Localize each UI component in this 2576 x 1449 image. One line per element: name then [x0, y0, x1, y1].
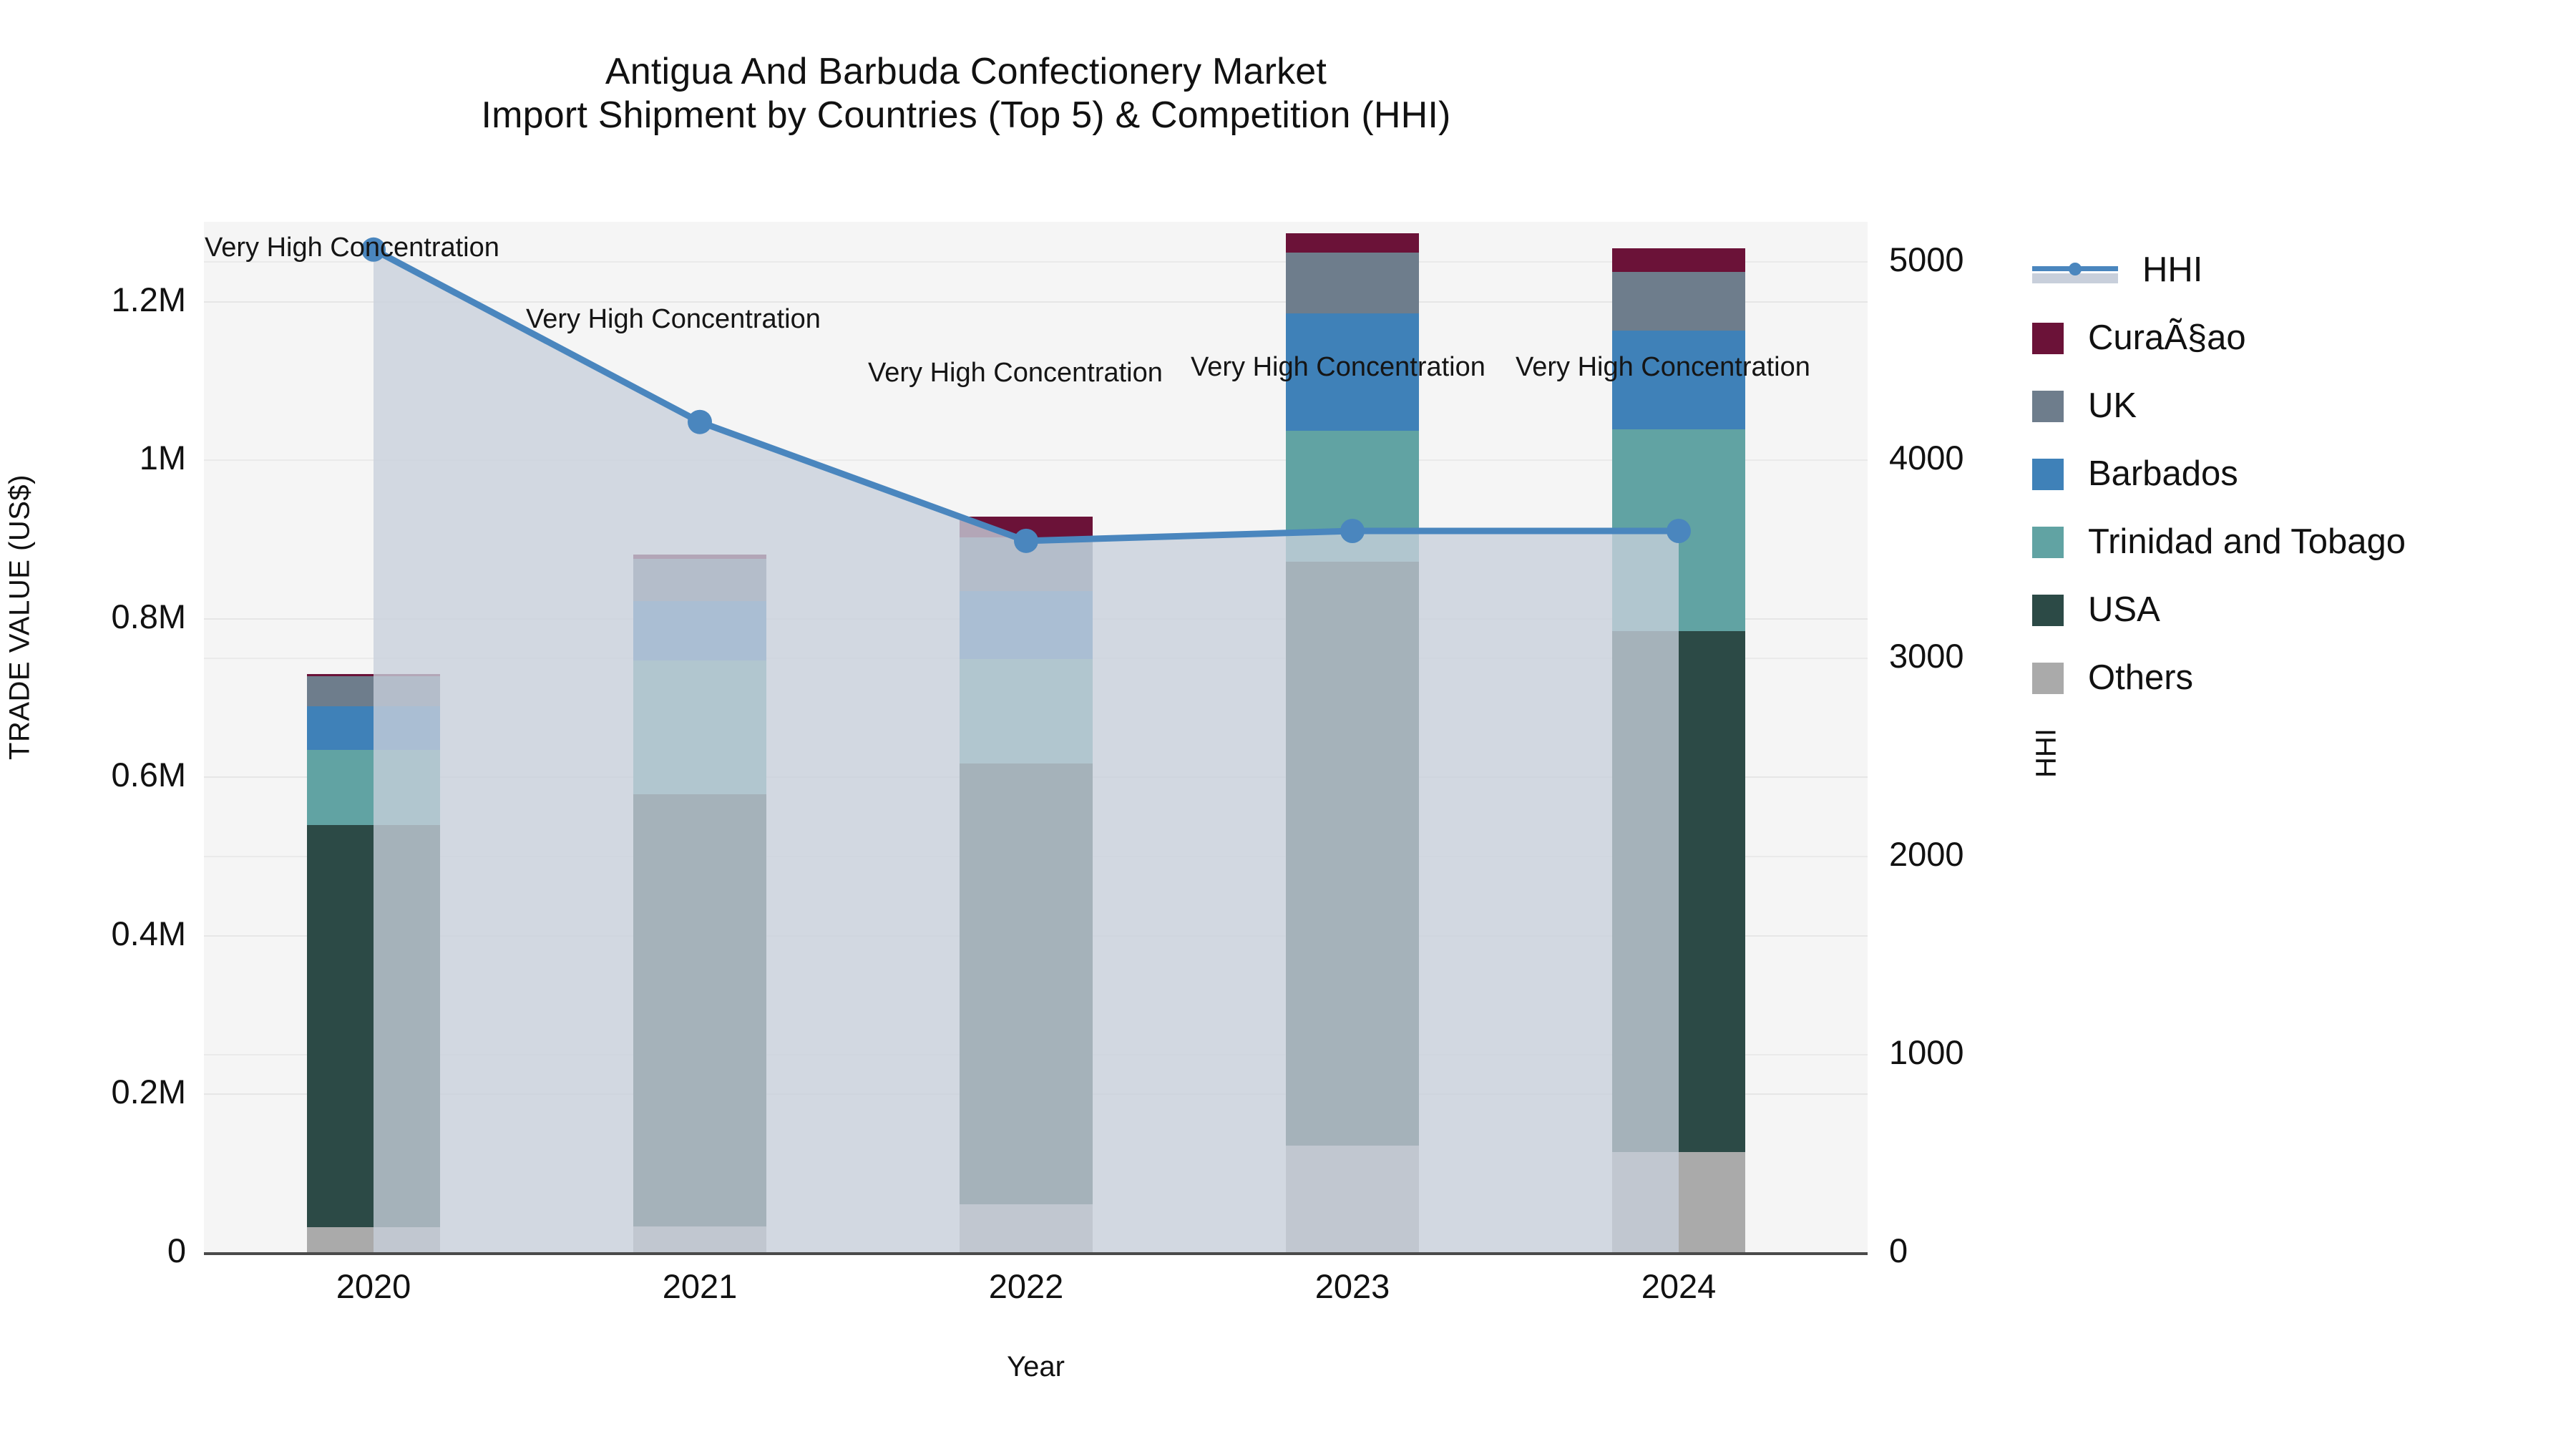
legend-swatch-icon: [2032, 527, 2064, 558]
hhi-annotation-2020: Very High Concentration: [205, 233, 499, 263]
bar-segment-barbados-2020[interactable]: [307, 706, 440, 750]
bar-segment-usa-2023[interactable]: [1286, 562, 1419, 1146]
bar-segment-others-2024[interactable]: [1612, 1152, 1745, 1254]
bar-segment-cura-ao-2023[interactable]: [1286, 233, 1419, 253]
legend-item-usa[interactable]: USA: [2032, 576, 2562, 644]
bar-segment-barbados-2022[interactable]: [960, 591, 1093, 659]
chart-title-line-1: Antigua And Barbuda Confectionery Market: [0, 50, 1932, 94]
x-axis-label: Year: [204, 1351, 1868, 1383]
bar-segment-others-2022[interactable]: [960, 1204, 1093, 1254]
hhi-annotation-2021: Very High Concentration: [526, 304, 821, 335]
legend-item-hhi[interactable]: HHI: [2032, 236, 2562, 304]
hhi-annotation-2023: Very High Concentration: [1191, 352, 1485, 383]
y-axis-left-label: TRADE VALUE (US$): [4, 431, 36, 804]
legend-item-barbados[interactable]: Barbados: [2032, 440, 2562, 508]
bar-segment-uk-2021[interactable]: [633, 559, 766, 602]
bar-segment-trinidad-and-tobago-2022[interactable]: [960, 659, 1093, 763]
bar-segment-cura-ao-2022[interactable]: [960, 517, 1093, 537]
bar-segment-uk-2023[interactable]: [1286, 253, 1419, 313]
y-axis-left-tick-6: 1.2M: [0, 280, 186, 319]
legend-item-label: Others: [2088, 660, 2193, 696]
y-axis-right-tick-0: 0: [1889, 1231, 2104, 1270]
x-axis-line: [204, 1252, 1868, 1255]
legend-item-label: USA: [2088, 592, 2160, 628]
chart-title: Antigua And Barbuda Confectionery Market…: [0, 50, 1932, 138]
legend-item-label: HHI: [2142, 253, 2202, 288]
bar-segment-uk-2020[interactable]: [307, 676, 440, 706]
legend-item-label: CuraÃ§ao: [2088, 321, 2246, 356]
bar-segment-trinidad-and-tobago-2024[interactable]: [1612, 429, 1745, 631]
bar-segment-others-2021[interactable]: [633, 1226, 766, 1254]
legend-item-label: UK: [2088, 389, 2137, 424]
bar-segment-cura-ao-2021[interactable]: [633, 555, 766, 559]
bar-segment-uk-2022[interactable]: [960, 537, 1093, 591]
y-axis-right-tick-1: 1000: [1889, 1033, 2104, 1072]
y-axis-left-tick-1: 0.2M: [0, 1072, 186, 1111]
hhi-annotation-2024: Very High Concentration: [1516, 352, 1810, 383]
legend-item-others[interactable]: Others: [2032, 644, 2562, 712]
bar-group-2020[interactable]: [307, 223, 440, 1254]
legend-swatch-icon: [2032, 459, 2064, 490]
x-axis-tick-2020: 2020: [259, 1267, 488, 1306]
y-axis-right-tick-2: 2000: [1889, 834, 2104, 874]
x-axis-tick-2021: 2021: [585, 1267, 814, 1306]
bar-segment-trinidad-and-tobago-2023[interactable]: [1286, 431, 1419, 562]
legend: HHICuraÃ§aoUKBarbadosTrinidad and Tobago…: [2032, 236, 2562, 712]
bar-segment-cura-ao-2024[interactable]: [1612, 248, 1745, 271]
legend-item-trinidad-and-tobago[interactable]: Trinidad and Tobago: [2032, 508, 2562, 576]
legend-swatch-icon: [2032, 391, 2064, 422]
bar-segment-trinidad-and-tobago-2020[interactable]: [307, 750, 440, 825]
bar-segment-usa-2020[interactable]: [307, 825, 440, 1228]
bar-segment-usa-2022[interactable]: [960, 763, 1093, 1204]
x-axis-tick-2022: 2022: [912, 1267, 1141, 1306]
legend-item-label: Barbados: [2088, 457, 2238, 492]
chart-title-line-2: Import Shipment by Countries (Top 5) & C…: [0, 94, 1932, 137]
legend-line-swatch-icon: [2032, 255, 2118, 286]
legend-marker-dot: [2069, 263, 2082, 275]
y-axis-left-tick-0: 0: [0, 1231, 186, 1270]
bar-segment-uk-2024[interactable]: [1612, 272, 1745, 331]
hhi-annotation-2022: Very High Concentration: [868, 358, 1163, 389]
bar-group-2021[interactable]: [633, 223, 766, 1254]
bar-segment-usa-2021[interactable]: [633, 794, 766, 1227]
bar-segment-barbados-2021[interactable]: [633, 601, 766, 660]
legend-swatch-icon: [2032, 595, 2064, 626]
bar-segment-others-2023[interactable]: [1286, 1146, 1419, 1254]
legend-swatch-icon: [2032, 663, 2064, 694]
x-axis-tick-2023: 2023: [1238, 1267, 1467, 1306]
bar-segment-trinidad-and-tobago-2021[interactable]: [633, 660, 766, 794]
bar-segment-cura-ao-2020[interactable]: [307, 674, 440, 675]
legend-item-uk[interactable]: UK: [2032, 372, 2562, 440]
y-axis-left-tick-2: 0.4M: [0, 914, 186, 953]
bar-segment-usa-2024[interactable]: [1612, 631, 1745, 1152]
x-axis-tick-2024: 2024: [1564, 1267, 1793, 1306]
legend-item-label: Trinidad and Tobago: [2088, 525, 2406, 560]
legend-swatch-icon: [2032, 323, 2064, 354]
legend-item-cura-ao[interactable]: CuraÃ§ao: [2032, 304, 2562, 372]
bar-segment-others-2020[interactable]: [307, 1227, 440, 1254]
